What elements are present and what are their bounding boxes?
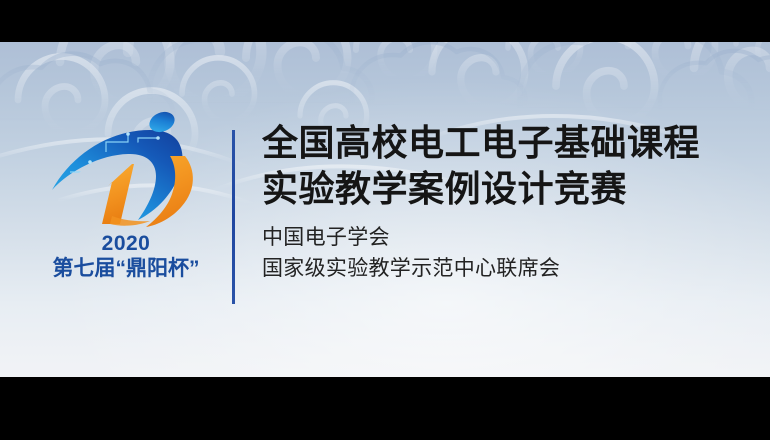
banner-title-line-2: 实验教学案例设计竞赛 xyxy=(262,166,700,212)
vertical-divider xyxy=(232,130,235,304)
organizer-line-2: 国家级实验教学示范中心联席会 xyxy=(262,254,700,284)
logo-orange-foot xyxy=(110,216,150,226)
organizer-block: 中国电子学会 国家级实验教学示范中心联席会 xyxy=(262,223,700,284)
competition-logo-block: 2020 第七届“鼎阳杯” xyxy=(36,108,216,282)
logo-year-label: 2020 xyxy=(36,232,216,256)
organizer-line-1: 中国电子学会 xyxy=(262,223,700,253)
letterbox-bar-bottom xyxy=(0,377,770,440)
competition-banner: 2020 第七届“鼎阳杯” 全国高校电工电子基础课程 实验教学案例设计竞赛 中国… xyxy=(0,0,770,440)
logo-edition-label: 第七届“鼎阳杯” xyxy=(36,256,216,282)
banner-title-line-1: 全国高校电工电子基础课程 xyxy=(262,120,700,166)
letterbox-bar-top xyxy=(0,0,770,42)
banner-text-block: 全国高校电工电子基础课程 实验教学案例设计竞赛 中国电子学会 国家级实验教学示范… xyxy=(262,120,700,284)
logo-orange-numeral-one xyxy=(102,164,134,224)
running-figure-circuit-logo-icon xyxy=(46,108,206,228)
banner-artwork: 2020 第七届“鼎阳杯” 全国高校电工电子基础课程 实验教学案例设计竞赛 中国… xyxy=(0,42,770,377)
